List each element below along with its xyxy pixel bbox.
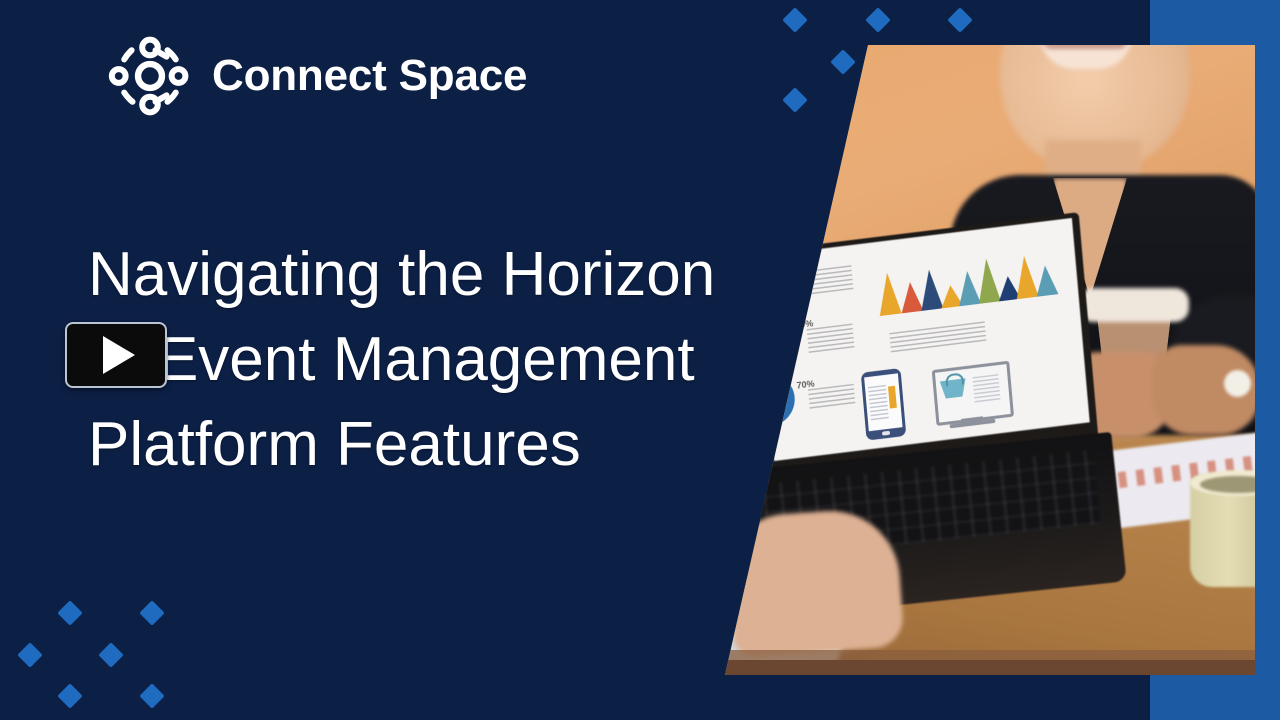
infographic-triangle — [876, 272, 901, 317]
title-line-1: Navigating the Horizon — [88, 232, 828, 317]
presentation-slide: 50% 70% — [0, 0, 1280, 720]
title-line-2: of Event Management — [88, 317, 828, 402]
diamond-shape — [57, 600, 82, 625]
infographic-monitor-text — [972, 374, 1000, 403]
diamond-shape — [782, 7, 807, 32]
diamond-shape — [865, 7, 890, 32]
diamond-shape — [139, 600, 164, 625]
infographic-phone-text — [868, 385, 889, 421]
diamond-shape — [57, 683, 82, 708]
diamond-shape — [947, 7, 972, 32]
brand-name: Connect Space — [212, 51, 527, 101]
photo-typing-hand — [725, 506, 904, 658]
brand-logo: Connect Space — [104, 30, 527, 122]
play-triangle-icon — [103, 336, 135, 374]
photo-person-mouth — [1042, 39, 1128, 49]
infographic-text-block — [889, 321, 986, 355]
diamond-shape — [782, 87, 807, 112]
diamond-shape — [98, 642, 123, 667]
slide-title: Navigating the Horizon of Event Manageme… — [88, 232, 828, 487]
infographic-triangle — [1034, 264, 1058, 297]
diamond-shape — [17, 642, 42, 667]
photo-cup-lid — [1079, 288, 1189, 322]
diamond-shape — [139, 683, 164, 708]
infographic-basket-handle-icon — [945, 372, 964, 386]
title-line-2-rest: Event Management — [157, 325, 695, 394]
diamond-shape — [830, 49, 855, 74]
photo-ring — [1224, 370, 1251, 397]
play-button[interactable] — [65, 322, 167, 388]
network-nodes-icon — [104, 30, 196, 122]
title-line-3: Platform Features — [88, 402, 828, 487]
